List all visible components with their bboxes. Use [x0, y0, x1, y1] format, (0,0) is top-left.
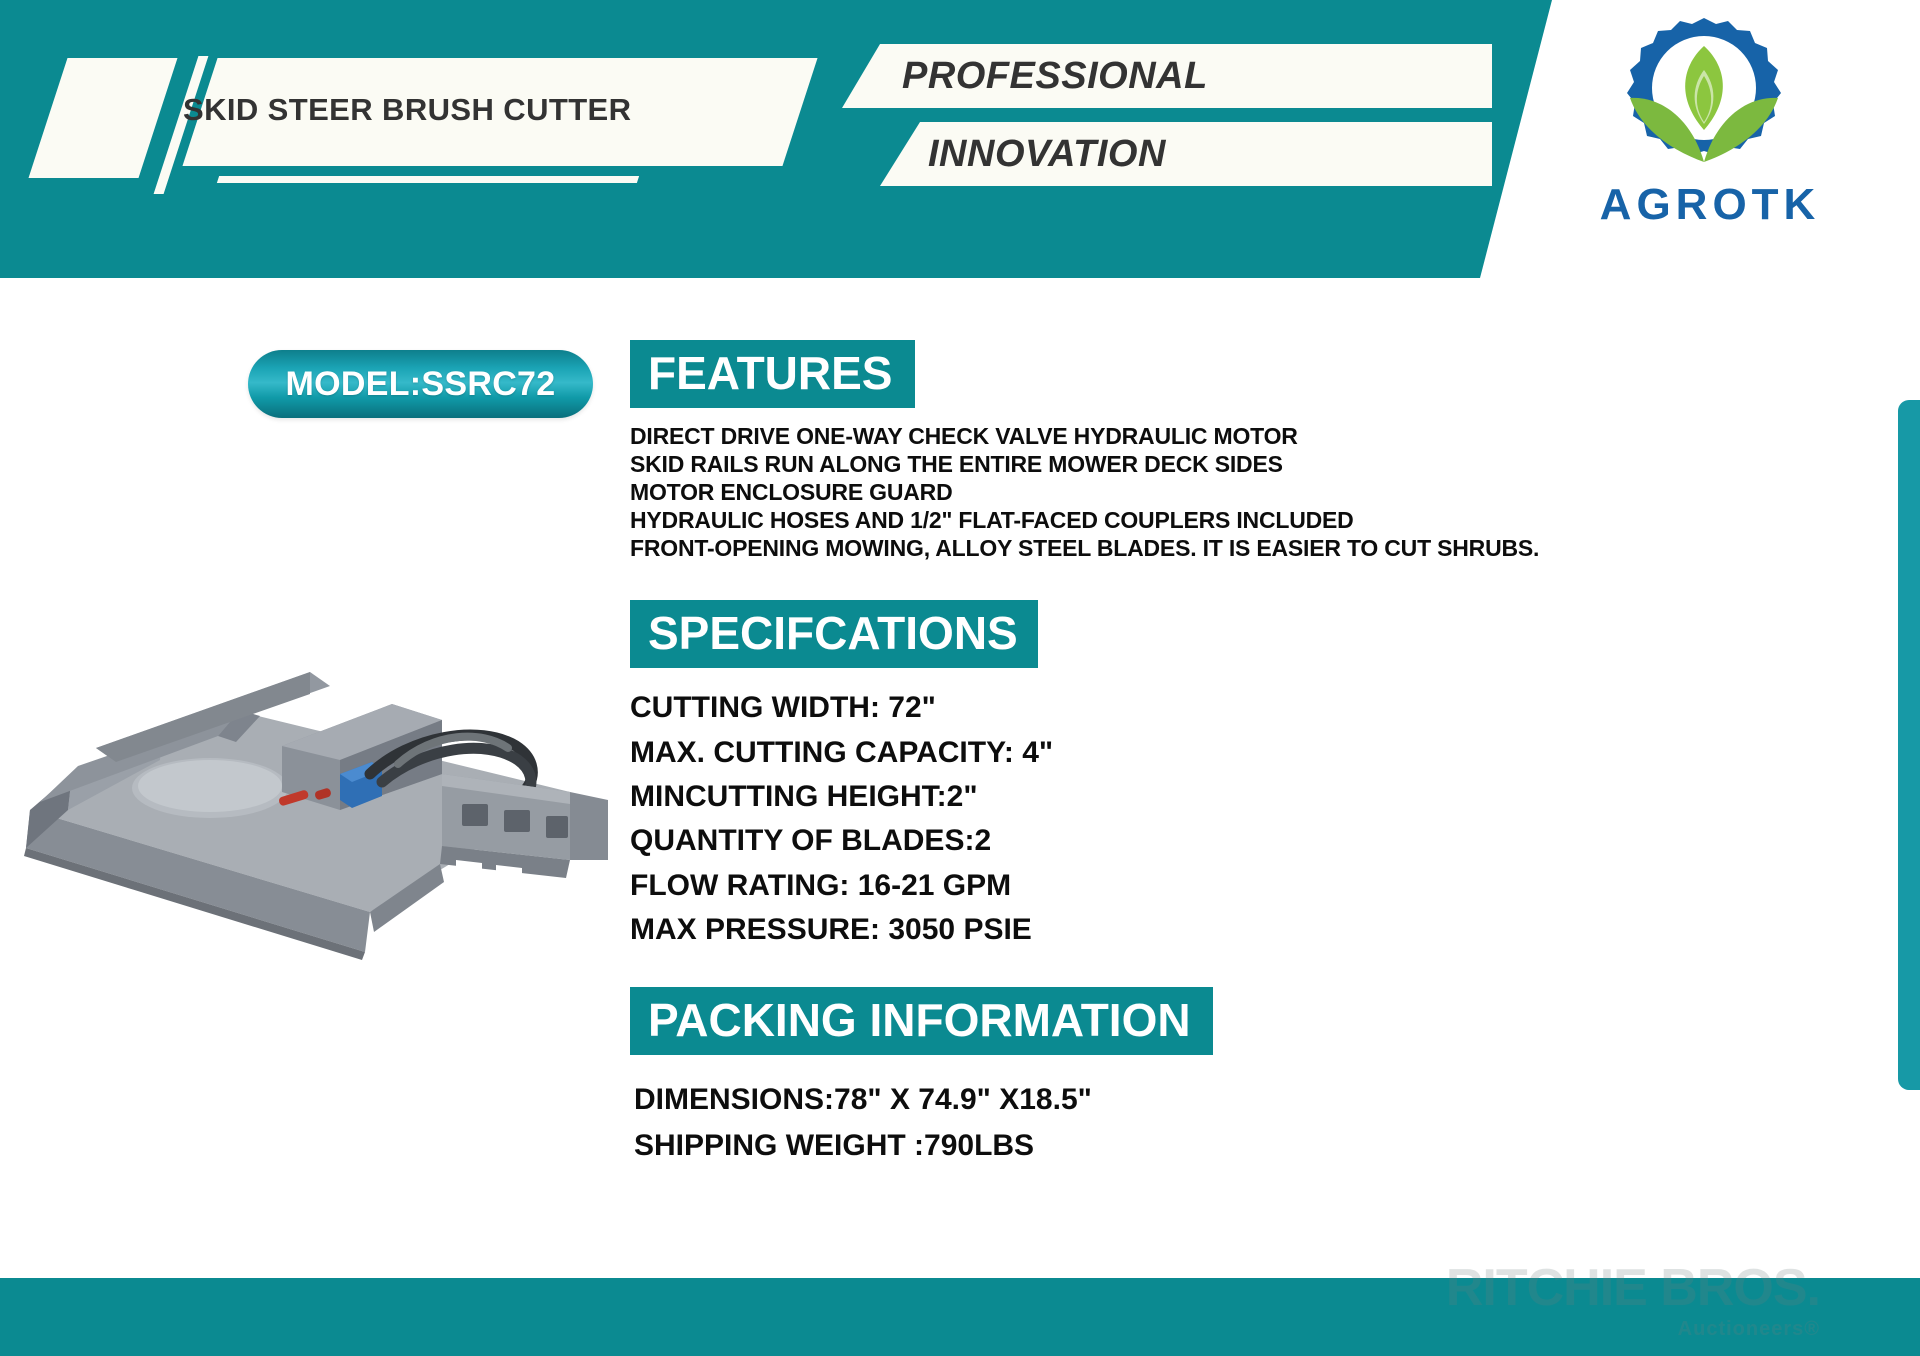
brand-wordmark: AGROTK — [1560, 180, 1860, 230]
spec-item: MINCUTTING HEIGHT:2" — [630, 775, 1830, 819]
model-badge: MODEL:SSRC72 — [248, 350, 593, 418]
feature-item: FRONT-OPENING MOWING, ALLOY STEEL BLADES… — [630, 534, 1830, 562]
header-tagline-innovation: INNOVATION — [880, 122, 1492, 186]
page-footer — [0, 1278, 1920, 1356]
features-heading: FEATURES — [630, 340, 915, 408]
right-edge-tab[interactable] — [1898, 400, 1920, 1090]
header-tagline-professional: PROFESSIONAL — [842, 44, 1492, 108]
page-header: SKID STEER BRUSH CUTTER PROFESSIONAL INN… — [0, 0, 1920, 278]
tagline-professional-text: PROFESSIONAL — [902, 55, 1208, 98]
product-image — [10, 560, 620, 980]
feature-item: SKID RAILS RUN ALONG THE ENTIRE MOWER DE… — [630, 450, 1830, 478]
feature-item: HYDRAULIC HOSES AND 1/2" FLAT-FACED COUP… — [630, 506, 1830, 534]
packing-item: SHIPPING WEIGHT :790LBS — [634, 1123, 1830, 1170]
header-accent-shape-small — [29, 58, 178, 178]
spec-item: QUANTITY OF BLADES:2 — [630, 819, 1830, 863]
specifications-list: CUTTING WIDTH: 72" MAX. CUTTING CAPACITY… — [630, 686, 1830, 952]
spec-item: MAX. CUTTING CAPACITY: 4" — [630, 731, 1830, 775]
page-title: SKID STEER BRUSH CUTTER — [183, 80, 743, 140]
spec-item: CUTTING WIDTH: 72" — [630, 686, 1830, 730]
brand-logo: AGROTK — [1560, 12, 1860, 262]
agrotk-gear-leaf-icon — [1604, 12, 1804, 184]
specifications-heading: SPECIFCATIONS — [630, 600, 1038, 668]
spec-item: MAX PRESSURE: 3050 PSIE — [630, 908, 1830, 952]
packing-item: DIMENSIONS:78" X 74.9" X18.5" — [634, 1077, 1830, 1124]
tagline-innovation-text: INNOVATION — [928, 133, 1166, 176]
packing-list: DIMENSIONS:78" X 74.9" X18.5" SHIPPING W… — [634, 1077, 1830, 1170]
feature-item: DIRECT DRIVE ONE-WAY CHECK VALVE HYDRAUL… — [630, 422, 1830, 450]
spec-item: FLOW RATING: 16-21 GPM — [630, 864, 1830, 908]
packing-heading: PACKING INFORMATION — [630, 987, 1213, 1055]
spacer — [630, 562, 1830, 600]
spacer — [630, 953, 1830, 987]
header-underline-bar — [217, 176, 639, 183]
features-list: DIRECT DRIVE ONE-WAY CHECK VALVE HYDRAUL… — [630, 422, 1830, 562]
model-badge-label: MODEL:SSRC72 — [286, 365, 556, 404]
feature-item: MOTOR ENCLOSURE GUARD — [630, 478, 1830, 506]
specification-column: FEATURES DIRECT DRIVE ONE-WAY CHECK VALV… — [630, 340, 1830, 1170]
